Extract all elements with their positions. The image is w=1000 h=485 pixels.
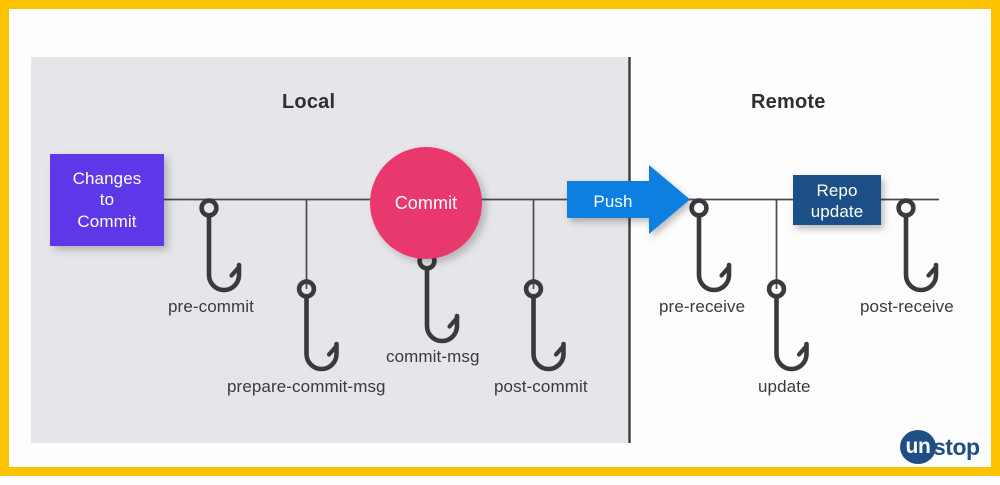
hook-label-post-commit: post-commit [494, 377, 588, 397]
repo-update-label: Repo update [793, 180, 881, 223]
unstop-logo-wordmark: stop [933, 430, 980, 464]
hook-post-receive [899, 201, 936, 290]
hook-label-commit-msg: commit-msg [386, 347, 480, 367]
hook-label-update: update [758, 377, 811, 397]
unstop-logo-mark: un [900, 430, 936, 464]
section-title-remote: Remote [751, 91, 826, 114]
diagram-canvas: Local Remote Changes to Commit Commit Pu… [9, 9, 991, 467]
hook-label-pre-commit: pre-commit [168, 297, 254, 317]
diagram-frame: Local Remote Changes to Commit Commit Pu… [0, 0, 1000, 476]
hook-label-post-receive: post-receive [860, 297, 954, 317]
unstop-logo: un stop [900, 430, 992, 464]
changes-to-commit-label: Changes to Commit [50, 168, 164, 232]
push-arrow-label: Push [577, 191, 649, 212]
hook-label-prepare-commit-msg: prepare-commit-msg [227, 377, 386, 397]
section-title-local: Local [282, 91, 335, 114]
hook-label-pre-receive: pre-receive [659, 297, 745, 317]
unstop-logo-mark-text: un [900, 430, 936, 464]
hook-pre-receive [692, 201, 729, 290]
commit-circle-label: Commit [370, 192, 482, 215]
diagram-vector-layer [9, 9, 1000, 485]
hook-update [769, 282, 806, 369]
